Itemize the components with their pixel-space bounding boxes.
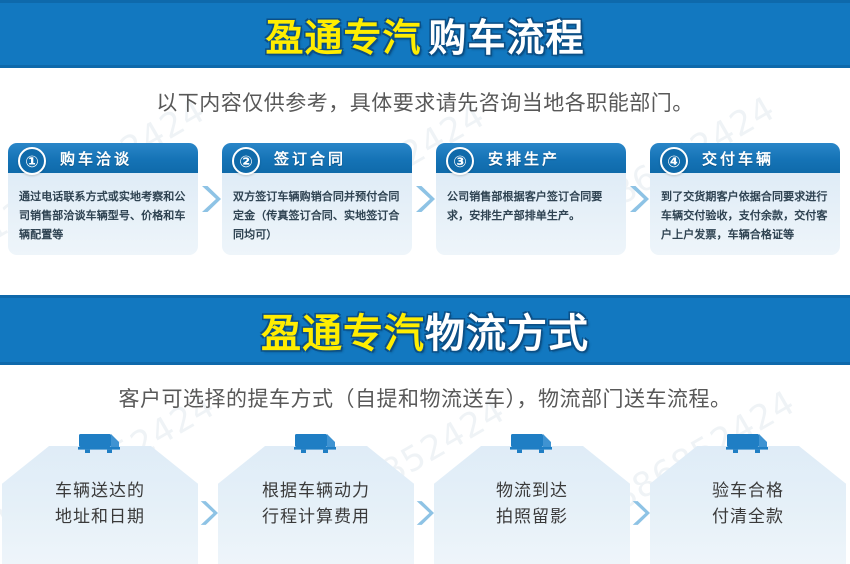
logistics-card-1-line2: 地址和日期 — [2, 504, 198, 530]
step-card-4[interactable]: ④ 交付车辆 到了交货期客户依据合同要求进行车辆交付验收，支付余款，交付客户上户… — [650, 143, 840, 255]
logistics-card-2-line2: 行程计算费用 — [218, 504, 414, 530]
logistics-card-2-text: 根据车辆动力 行程计算费用 — [218, 478, 414, 531]
banner-purchase-title-brand: 盈通专汽 — [265, 7, 421, 62]
truck-icon — [509, 432, 555, 456]
step-card-3-number: ③ — [446, 147, 474, 175]
truck-icon — [77, 432, 123, 456]
logistics-card-3[interactable]: 物流到达 拍照留影 — [434, 432, 630, 564]
chevron-right-icon — [198, 432, 218, 564]
logistics-card-3-text: 物流到达 拍照留影 — [434, 478, 630, 531]
step-card-4-title: 交付车辆 — [702, 143, 774, 173]
logistics-card-3-line2: 拍照留影 — [434, 504, 630, 530]
logistics-card-4-line2: 付清全款 — [650, 504, 846, 530]
logistics-card-1-line1: 车辆送达的 — [2, 478, 198, 504]
banner-purchase-process: 盈通专汽 购车流程 — [0, 0, 850, 68]
logistics-card-1-text: 车辆送达的 地址和日期 — [2, 478, 198, 531]
chevron-right-icon — [630, 432, 650, 564]
logistics-card-4-line1: 验车合格 — [650, 478, 846, 504]
purchase-subtitle: 以下内容仅供参考，具体要求请先咨询当地各职能部门。 — [0, 87, 850, 117]
banner-purchase-title: 盈通专汽 购车流程 — [0, 3, 850, 65]
chevron-right-icon — [412, 143, 436, 255]
step-card-4-number: ④ — [660, 147, 688, 175]
logistics-card-1[interactable]: 车辆送达的 地址和日期 — [2, 432, 198, 564]
step-card-1[interactable]: ① 购车洽谈 通过电话联系方式或实地考察和公司销售部洽谈车辆型号、价格和车辆配置… — [8, 143, 198, 255]
step-card-3-title: 安排生产 — [488, 143, 560, 173]
truck-icon — [293, 432, 339, 456]
banner-logistics: 盈通专汽 物流方式 — [0, 295, 850, 365]
step-card-2[interactable]: ② 签订合同 双方签订车辆购销合同并预付合同定金（传真签订合同、实地签订合同均可… — [222, 143, 412, 255]
step-card-2-title: 签订合同 — [274, 143, 346, 173]
step-card-3[interactable]: ③ 安排生产 公司销售部根据客户签订合同要求，安排生产部排单生产。 — [436, 143, 626, 255]
page-root: 13886852424 13886852424 13886852424 1388… — [0, 0, 850, 564]
step-card-3-text: 公司销售部根据客户签订合同要求，安排生产部排单生产。 — [447, 188, 617, 226]
chevron-right-icon — [198, 143, 222, 255]
logistics-card-3-line1: 物流到达 — [434, 478, 630, 504]
step-card-1-text: 通过电话联系方式或实地考察和公司销售部洽谈车辆型号、价格和车辆配置等 — [19, 188, 189, 245]
banner-logistics-title: 盈通专汽 物流方式 — [0, 298, 850, 362]
purchase-steps-row: ① 购车洽谈 通过电话联系方式或实地考察和公司销售部洽谈车辆型号、价格和车辆配置… — [8, 143, 842, 255]
step-card-4-text: 到了交货期客户依据合同要求进行车辆交付验收，支付余款，交付客户上户发票，车辆合格… — [661, 188, 831, 245]
logistics-card-2-line1: 根据车辆动力 — [218, 478, 414, 504]
chevron-right-icon — [414, 432, 434, 564]
step-card-1-number: ① — [18, 147, 46, 175]
logistics-subtitle: 客户可选择的提车方式（自提和物流送车），物流部门送车流程。 — [0, 383, 850, 413]
banner-logistics-title-brand: 盈通专汽 — [261, 301, 425, 359]
logistics-card-4[interactable]: 验车合格 付清全款 — [650, 432, 846, 564]
banner-purchase-title-rest: 购车流程 — [429, 7, 585, 62]
logistics-card-4-text: 验车合格 付清全款 — [650, 478, 846, 531]
banner-logistics-title-rest: 物流方式 — [425, 301, 589, 359]
logistics-card-2[interactable]: 根据车辆动力 行程计算费用 — [218, 432, 414, 564]
truck-icon — [725, 432, 771, 456]
step-card-2-text: 双方签订车辆购销合同并预付合同定金（传真签订合同、实地签订合同均可） — [233, 188, 403, 245]
chevron-right-icon — [626, 143, 650, 255]
logistics-steps-row: 车辆送达的 地址和日期 根据车辆动力 行程计算费用 — [2, 432, 848, 564]
step-card-1-title: 购车洽谈 — [60, 143, 132, 173]
step-card-2-number: ② — [232, 147, 260, 175]
